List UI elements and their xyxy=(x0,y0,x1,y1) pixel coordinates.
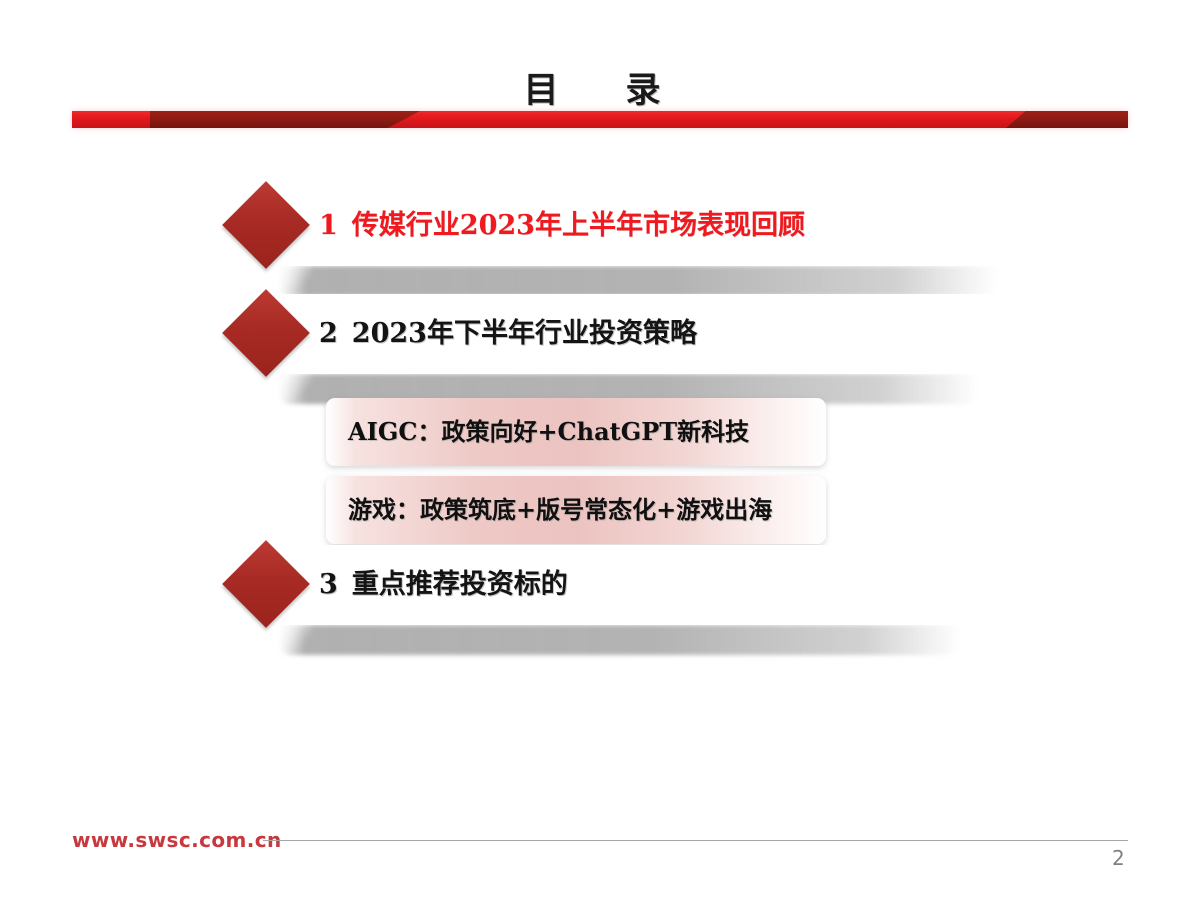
contents-item-2-text: 22023年下半年行业投资策略 xyxy=(319,294,697,374)
header-bar-segment-right xyxy=(1006,111,1128,128)
contents-item-3-text: 3重点推荐投资标的 xyxy=(319,545,568,625)
contents-subitem-aigc-label: AIGC：政策向好+ChatGPT新科技 xyxy=(348,398,749,466)
contents-item-1-text: 1传媒行业2023年上半年市场表现回顾 xyxy=(319,186,805,266)
contents-item-3-number: 3 xyxy=(319,569,338,600)
footer-divider xyxy=(263,840,1128,841)
contents-item-1-shadow xyxy=(278,266,997,296)
page-number: 2 xyxy=(1112,846,1125,870)
contents-subitem-games-label: 游戏：政策筑底+版号常态化+游戏出海 xyxy=(348,476,772,544)
contents-subitem-aigc[interactable]: AIGC：政策向好+ChatGPT新科技 xyxy=(326,398,826,466)
footer-website-url[interactable]: www.swsc.com.cn xyxy=(72,828,282,852)
contents-item-1[interactable]: 1传媒行业2023年上半年市场表现回顾 xyxy=(283,186,1020,266)
contents-item-3-shadow xyxy=(278,625,960,655)
page-title: 目 录 xyxy=(0,62,1200,113)
header-accent-bar xyxy=(72,111,1128,128)
contents-item-3[interactable]: 3重点推荐投资标的 xyxy=(283,545,983,625)
slide-canvas: 目 录 1传媒行业2023年上半年市场表现回顾 22023年下半年行业投资策略 … xyxy=(0,0,1200,900)
contents-item-1-label: 传媒行业2023年上半年市场表现回顾 xyxy=(352,210,805,241)
contents-subitem-games[interactable]: 游戏：政策筑底+版号常态化+游戏出海 xyxy=(326,476,826,544)
contents-item-2-label: 2023年下半年行业投资策略 xyxy=(352,318,697,349)
contents-item-2-number: 2 xyxy=(319,318,338,349)
header-bar-segment-left xyxy=(150,111,420,128)
contents-item-2[interactable]: 22023年下半年行业投资策略 xyxy=(283,294,1001,374)
contents-item-1-number: 1 xyxy=(319,210,338,241)
contents-item-3-label: 重点推荐投资标的 xyxy=(352,569,568,600)
